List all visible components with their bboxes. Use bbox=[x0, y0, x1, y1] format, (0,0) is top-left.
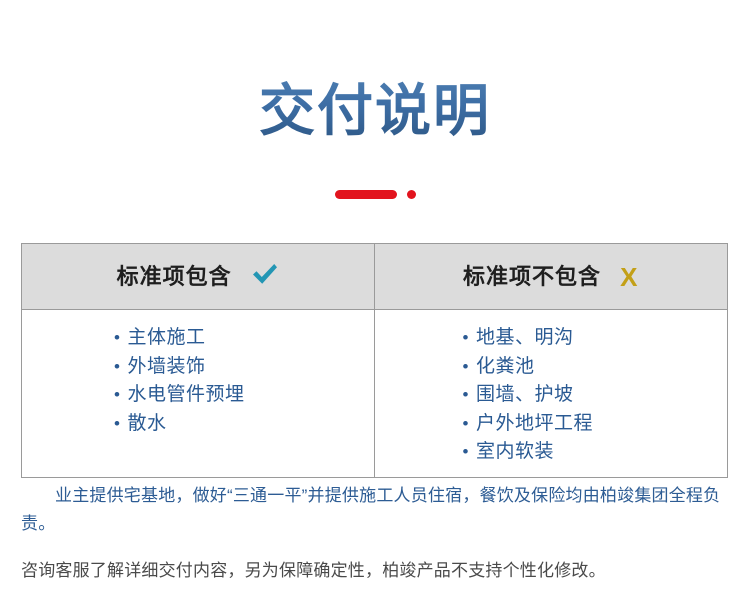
list-item: • 地基、明沟 bbox=[463, 324, 728, 353]
divider-dot-icon bbox=[407, 190, 416, 199]
delivery-instructions-page: 交付说明 标准项包含 标准项不包含 X bbox=[0, 0, 750, 597]
table-header-excluded: 标准项不包含 X bbox=[375, 244, 728, 309]
decorative-divider bbox=[0, 190, 750, 199]
bullet-icon: • bbox=[463, 415, 469, 432]
table-header-row: 标准项包含 标准项不包含 X bbox=[22, 244, 727, 310]
bullet-icon: • bbox=[114, 358, 120, 375]
title-block: 交付说明 bbox=[0, 78, 750, 144]
bullet-icon: • bbox=[463, 443, 469, 460]
list-item-label: 化粪池 bbox=[476, 353, 535, 382]
page-title: 交付说明 bbox=[259, 78, 491, 144]
list-item-label: 地基、明沟 bbox=[476, 324, 574, 353]
list-item-label: 主体施工 bbox=[127, 324, 205, 353]
divider-bar-icon bbox=[335, 190, 397, 199]
list-item-label: 外墙装饰 bbox=[127, 353, 205, 382]
table-header-included: 标准项包含 bbox=[22, 244, 375, 309]
bullet-icon: • bbox=[463, 358, 469, 375]
list-item: • 散水 bbox=[114, 410, 374, 439]
bullet-icon: • bbox=[463, 386, 469, 403]
footer-notes: 业主提供宅基地，做好“三通一平”并提供施工人员住宿，餐饮及保险均由柏竣集团全程负… bbox=[21, 482, 728, 584]
included-items-cell: • 主体施工 • 外墙装饰 • 水电管件预埋 • 散水 bbox=[22, 310, 375, 477]
list-item: • 水电管件预埋 bbox=[114, 381, 374, 410]
list-item: • 围墙、护坡 bbox=[463, 381, 728, 410]
note-customization-disclaimer: 咨询客服了解详细交付内容，另为保障确定性，柏竣产品不支持个性化修改。 bbox=[21, 557, 728, 584]
bullet-icon: • bbox=[114, 415, 120, 432]
included-items-list: • 主体施工 • 外墙装饰 • 水电管件预埋 • 散水 bbox=[22, 324, 374, 438]
list-item-label: 散水 bbox=[127, 410, 166, 439]
note-owner-responsibility: 业主提供宅基地，做好“三通一平”并提供施工人员住宿，餐饮及保险均由柏竣集团全程负… bbox=[21, 482, 728, 537]
list-item: • 室内软装 bbox=[463, 438, 728, 467]
check-icon bbox=[251, 262, 279, 286]
bullet-icon: • bbox=[114, 329, 120, 346]
bullet-icon: • bbox=[114, 386, 120, 403]
delivery-scope-table: 标准项包含 标准项不包含 X • 主体施工 bbox=[21, 243, 728, 478]
list-item: • 户外地坪工程 bbox=[463, 410, 728, 439]
bullet-icon: • bbox=[463, 329, 469, 346]
list-item: • 外墙装饰 bbox=[114, 353, 374, 382]
table-header-excluded-label: 标准项不包含 bbox=[463, 264, 601, 289]
table-header-included-label: 标准项包含 bbox=[117, 264, 232, 289]
excluded-items-list: • 地基、明沟 • 化粪池 • 围墙、护坡 • 户外地坪工程 bbox=[375, 324, 728, 467]
excluded-items-cell: • 地基、明沟 • 化粪池 • 围墙、护坡 • 户外地坪工程 bbox=[375, 310, 728, 477]
list-item: • 主体施工 bbox=[114, 324, 374, 353]
x-icon: X bbox=[620, 262, 638, 293]
table-body-row: • 主体施工 • 外墙装饰 • 水电管件预埋 • 散水 bbox=[22, 310, 727, 478]
list-item: • 化粪池 bbox=[463, 353, 728, 382]
list-item-label: 室内软装 bbox=[476, 438, 554, 467]
list-item-label: 水电管件预埋 bbox=[127, 381, 244, 410]
list-item-label: 户外地坪工程 bbox=[476, 410, 593, 439]
list-item-label: 围墙、护坡 bbox=[476, 381, 574, 410]
